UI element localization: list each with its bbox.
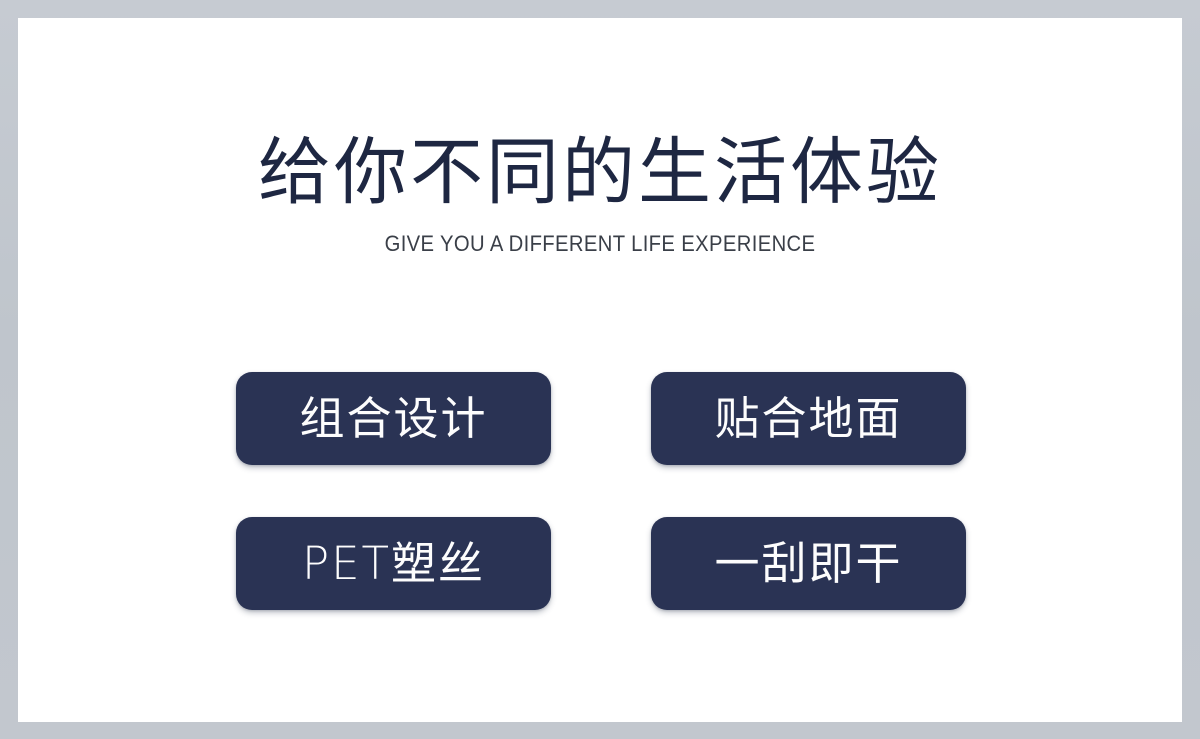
banner-canvas: 给你不同的生活体验 GIVE YOU A DIFFERENT LIFE EXPE… bbox=[18, 18, 1182, 722]
feature-chip-label: PET塑丝 bbox=[302, 541, 485, 586]
promo-banner: 给你不同的生活体验 GIVE YOU A DIFFERENT LIFE EXPE… bbox=[0, 0, 1200, 739]
feature-chip-fits-ground[interactable]: 贴合地面 bbox=[651, 372, 966, 465]
page-title: 给你不同的生活体验 bbox=[18, 136, 1182, 209]
page-subtitle: GIVE YOU A DIFFERENT LIFE EXPERIENCE bbox=[76, 231, 1124, 257]
feature-chip-label: 组合设计 bbox=[299, 396, 487, 441]
feature-chip-label: 一刮即干 bbox=[714, 541, 902, 586]
feature-chip-label: 贴合地面 bbox=[714, 396, 902, 441]
feature-chip-grid: 组合设计 贴合地面 PET塑丝 一刮即干 bbox=[236, 372, 966, 610]
feature-chip-pet-filament[interactable]: PET塑丝 bbox=[236, 517, 551, 610]
feature-chip-instant-dry[interactable]: 一刮即干 bbox=[651, 517, 966, 610]
feature-chip-combination-design[interactable]: 组合设计 bbox=[236, 372, 551, 465]
heading-block: 给你不同的生活体验 GIVE YOU A DIFFERENT LIFE EXPE… bbox=[18, 136, 1182, 257]
